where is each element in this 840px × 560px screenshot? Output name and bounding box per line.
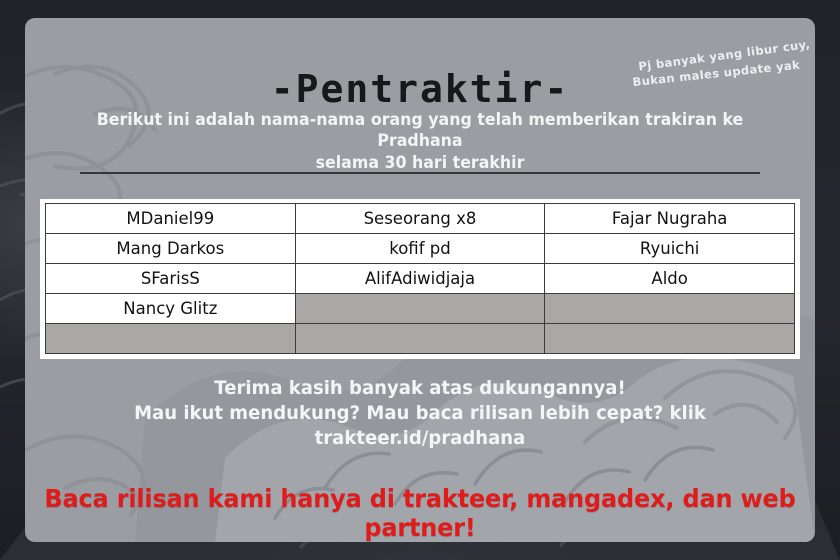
supporters-table-body: MDaniel99Seseorang x8Fajar NugrahaMang D… <box>46 204 795 354</box>
table-cell-empty <box>545 294 795 324</box>
table-cell-name: Fajar Nugraha <box>545 204 795 234</box>
table-cell-empty <box>46 324 296 354</box>
table-cell-name: Seseorang x8 <box>295 204 545 234</box>
trakteer-link[interactable]: trakteer.id/pradhana <box>45 426 796 451</box>
table-row: Nancy Glitz <box>46 294 795 324</box>
table-cell-name: AlifAdiwidjaja <box>295 264 545 294</box>
thanks-line-1: Terima kasih banyak atas dukungannya! <box>45 376 796 401</box>
table-cell-name: MDaniel99 <box>46 204 296 234</box>
table-row <box>46 324 795 354</box>
screenshot-root: Pj banyak yang libur cuy, Bukan males up… <box>0 0 840 560</box>
table-cell-name: Ryuichi <box>545 234 795 264</box>
table-cell-name: SFarisS <box>46 264 296 294</box>
subtitle-line-2: selama 30 hari terakhir <box>53 153 788 174</box>
subtitle-line-1: Berikut ini adalah nama-nama orang yang … <box>53 110 788 153</box>
thanks-block: Terima kasih banyak atas dukungannya! Ma… <box>45 376 796 451</box>
page-title: -Pentraktir- <box>25 70 815 108</box>
thanks-line-2: Mau ikut mendukung? Mau baca rilisan leb… <box>45 401 796 426</box>
table-cell-name: Mang Darkos <box>46 234 296 264</box>
table-cell-name: Nancy Glitz <box>46 294 296 324</box>
table-cell-name: kofif pd <box>295 234 545 264</box>
supporters-table: MDaniel99Seseorang x8Fajar NugrahaMang D… <box>45 203 795 354</box>
table-cell-name: Aldo <box>545 264 795 294</box>
table-cell-empty <box>545 324 795 354</box>
header-divider <box>80 172 760 174</box>
table-cell-empty <box>295 294 545 324</box>
page-subtitle: Berikut ini adalah nama-nama orang yang … <box>53 110 788 174</box>
table-row: Mang Darkoskofif pdRyuichi <box>46 234 795 264</box>
table-row: SFarisSAlifAdiwidjajaAldo <box>46 264 795 294</box>
table-cell-empty <box>295 324 545 354</box>
content-card: Pj banyak yang libur cuy, Bukan males up… <box>25 18 815 542</box>
partner-banner: Baca rilisan kami hanya di trakteer, man… <box>41 484 799 542</box>
supporters-table-container: MDaniel99Seseorang x8Fajar NugrahaMang D… <box>40 199 800 359</box>
table-row: MDaniel99Seseorang x8Fajar Nugraha <box>46 204 795 234</box>
